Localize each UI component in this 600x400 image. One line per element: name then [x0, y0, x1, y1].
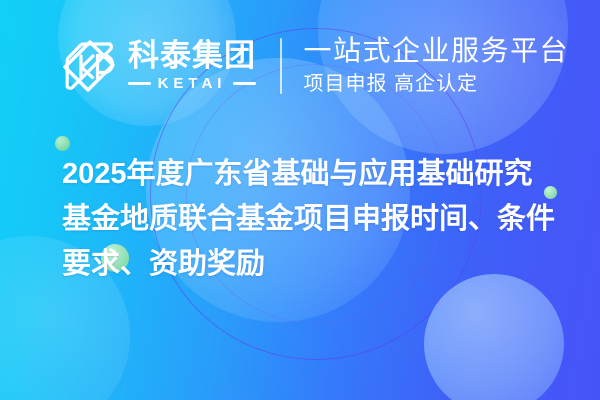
banner-header: 科泰集团 KETAI 一站式企业服务平台 项目申报 高企认定	[0, 0, 600, 132]
logo-rule-right	[233, 82, 256, 85]
green-dot-left	[55, 136, 70, 151]
ketai-monogram-icon	[60, 37, 118, 95]
header-divider	[280, 38, 282, 94]
brand-lockup[interactable]: 科泰集团 KETAI	[60, 37, 256, 95]
logo-chinese-name: 科泰集团	[128, 40, 256, 72]
bottom-right-disc-blob	[424, 274, 564, 400]
tagline-sub: 项目申报 高企认定	[304, 72, 570, 97]
tagline-main: 一站式企业服务平台	[304, 35, 570, 67]
promo-banner: 科泰集团 KETAI 一站式企业服务平台 项目申报 高企认定 2025年度广东省…	[0, 0, 600, 400]
logo-wordmark: 科泰集团 KETAI	[128, 40, 256, 92]
page-title: 2025年度广东省基础与应用基础研究基金地质联合基金项目申报时间、条件要求、资助…	[62, 152, 558, 287]
tagline-group: 一站式企业服务平台 项目申报 高企认定	[304, 35, 570, 97]
logo-english-row: KETAI	[128, 75, 256, 92]
logo-english-name: KETAI	[151, 75, 234, 92]
logo-rule-left	[128, 82, 151, 85]
